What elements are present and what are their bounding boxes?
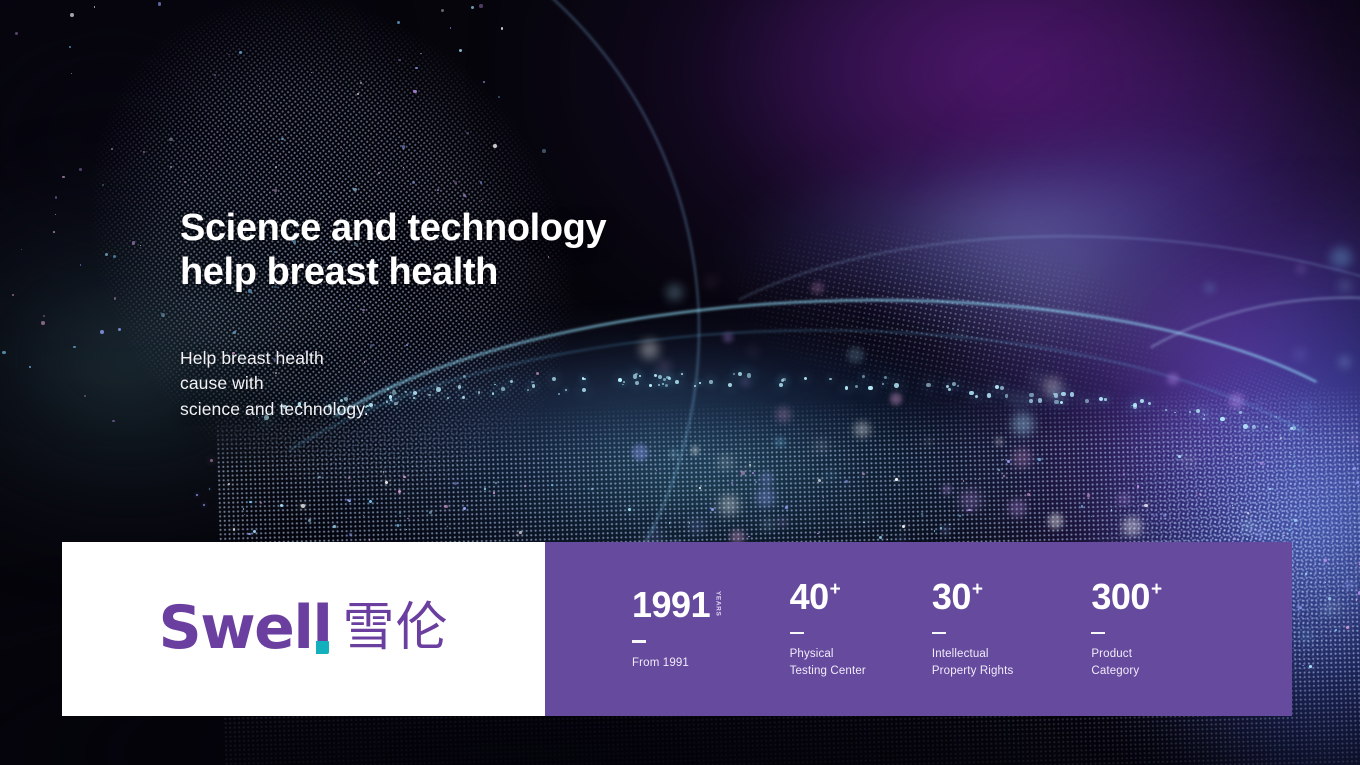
brand-logo: Swell 雪伦 [159,598,449,658]
stat-item: 40+Physical Testing Center [790,579,866,679]
stat-number: 30 [932,579,971,615]
filament-bead [694,385,696,387]
bokeh-dot [689,519,704,534]
filament-bead [618,378,622,382]
particle-dot [450,27,451,28]
bokeh-dot [1241,519,1256,534]
filament-bead [1029,399,1033,403]
particle-dot [402,145,405,148]
particle-dot [459,49,462,52]
particle-dot [998,469,1000,471]
particle-dot [239,51,242,54]
page-title: Science and technology help breast healt… [180,206,606,295]
filament-bead [1038,398,1043,403]
filament-bead [1054,393,1058,397]
particle-dot [260,502,262,504]
stat-item: 30+Intellectual Property Rights [932,579,1014,679]
bokeh-dot [1340,357,1350,367]
particle-dot [493,144,497,148]
stat-number: 1991 [632,587,710,623]
filament-bead [1029,393,1034,398]
particle-dot [21,249,22,250]
stat-plus-sign: + [830,580,841,599]
stat-plus-sign: + [1151,580,1162,599]
particle-dot [785,506,787,508]
particle-dot [369,539,370,540]
particle-dot [949,524,951,526]
stat-item: 1991YEARSFrom 1991 [632,587,721,671]
bokeh-dot [854,422,870,438]
filament-bead [1061,392,1065,396]
logo-wordmark-text: Swell [159,598,332,658]
particle-dot [55,196,58,199]
particle-dot [311,72,312,73]
filament-bead [862,375,865,378]
filament-bead [1220,417,1225,422]
particle-dot [519,531,522,534]
particle-dot [1087,494,1090,497]
particle-dot [333,525,336,528]
stat-plus-sign: + [972,580,983,599]
stat-label: Intellectual Property Rights [932,646,1014,679]
particle-dot [214,74,216,76]
bokeh-dot [759,471,774,486]
particle-dot [1309,665,1312,668]
bokeh-dot [691,446,700,455]
bokeh-dot [1201,410,1209,418]
filament-bead [675,380,679,384]
particle-dot [55,214,56,215]
bokeh-dot [1008,499,1026,517]
particle-dot [817,533,818,534]
particle-dot [1003,475,1005,477]
filament-bead [1148,402,1151,405]
stat-number-row: 30+ [932,579,1014,615]
particle-dot [406,529,408,531]
particle-dot [1234,538,1236,540]
particle-dot [429,511,432,514]
stat-divider-dash [932,632,946,635]
stat-label: Product Category [1091,646,1162,679]
particle-dot [2,351,6,355]
particle-dot [1335,629,1337,631]
stat-label: Physical Testing Center [790,646,866,679]
stats-panel: 1991YEARSFrom 199140+Physical Testing Ce… [545,542,1292,716]
bokeh-dot [778,519,786,527]
particle-dot [196,494,198,496]
particle-dot [1324,559,1327,562]
bokeh-dot [1344,580,1354,590]
particle-dot [347,499,349,501]
stat-number: 40 [790,579,829,615]
particle-dot [253,530,256,533]
bokeh-dot [762,519,773,530]
bokeh-dot [1296,350,1305,359]
particle-dot [755,481,757,483]
stat-item: 300+Product Category [1091,579,1162,679]
particle-dot [243,508,244,509]
particle-dot [1144,504,1147,507]
bokeh-dot [1012,448,1032,468]
bokeh-dot [1167,373,1180,386]
particle-dot [444,505,448,509]
particle-dot [132,241,135,244]
bokeh-dot [811,282,824,295]
particle-dot [43,315,45,317]
filament-bead [855,385,858,388]
filament-bead [681,373,683,375]
particle-dot [169,138,172,141]
particle-dot [102,184,104,186]
stat-label: From 1991 [632,655,721,671]
particle-dot [447,526,448,527]
particle-dot [501,27,503,29]
particle-dot [420,53,422,55]
particle-dot [397,524,399,526]
particle-dot [41,321,45,325]
filament-bead [926,383,930,387]
particle-dot [741,471,745,475]
particle-dot [1269,488,1271,490]
particle-dot [349,533,352,536]
bokeh-dot [669,449,678,458]
particle-dot [752,472,754,474]
filament-bead [1070,392,1075,397]
particle-dot [1290,473,1292,475]
particle-dot [301,504,304,507]
filament-bead [1243,424,1248,429]
particle-dot [895,478,898,481]
bokeh-dot [776,407,791,422]
particle-dot [357,93,359,95]
logo-panel: Swell 雪伦 [62,542,545,716]
particle-dot [100,330,104,334]
bokeh-dot [995,437,1003,445]
particle-dot [143,151,145,153]
particle-dot [349,501,350,502]
particle-dot [1260,462,1263,465]
particle-dot [15,32,18,35]
bokeh-dot [1302,403,1311,412]
particle-dot [399,512,401,514]
bokeh-dot [652,525,657,530]
particle-dot [369,500,372,503]
particle-dot [112,420,115,423]
particle-dot [863,522,864,523]
bokeh-dot [845,516,851,522]
stat-number: 300 [1091,579,1150,615]
particle-dot [862,473,865,476]
particle-dot [1305,573,1307,575]
bokeh-dot [1030,373,1040,383]
particle-dot [403,476,406,479]
filament-bead [1054,400,1059,405]
particle-dot [161,313,165,317]
particle-dot [80,264,82,266]
particle-dot [479,4,483,8]
filament-bead [845,386,849,390]
bokeh-dot [1229,393,1245,409]
particle-dot [669,522,671,524]
bokeh-dot [847,347,864,364]
filament-bead [1165,409,1167,411]
bokeh-dot [1012,413,1033,434]
stat-unit-label: YEARS [714,591,721,616]
particle-dot [413,90,416,93]
particle-dot [1235,457,1237,459]
particle-dot [1111,509,1113,511]
bokeh-dot [1330,247,1352,269]
particle-dot [1081,505,1083,507]
particle-dot [415,67,418,70]
particle-dot [731,482,733,484]
bokeh-dot [640,340,659,359]
particle-dot [498,96,500,98]
bokeh-dot [775,437,785,447]
filament-bead [868,386,873,391]
hero-copy-block: Science and technology help breast healt… [180,206,606,422]
bokeh-dot [1257,400,1263,406]
particle-dot [274,189,277,192]
bokeh-dot [632,444,649,461]
particle-dot [70,13,74,17]
bokeh-dot [1122,517,1142,537]
bokeh-dot [1256,528,1266,538]
particle-dot [280,504,284,508]
bokeh-dot [960,490,981,511]
particle-dot [203,504,205,506]
particle-dot [53,231,55,233]
particle-dot [542,149,546,153]
particle-dot [628,508,631,511]
particle-dot [1027,493,1030,496]
stat-divider-dash [1091,632,1105,635]
particle-dot [79,168,82,171]
particle-dot [73,346,76,349]
filament-bead [668,377,671,380]
bokeh-dot [1301,631,1312,642]
particle-dot [233,528,235,530]
brand-stats-panel: Swell 雪伦 1991YEARSFrom 199140+Physical T… [62,542,1292,716]
particle-dot [921,513,923,515]
bokeh-dot [925,438,932,445]
filament-bead [1085,399,1089,403]
particle-dot [699,487,701,489]
filament-bead [1189,411,1191,413]
logo-wordmark-label: Swell [159,593,332,663]
logo-accent-mark [316,641,329,654]
bokeh-dot [1048,513,1063,528]
particle-dot [1135,448,1137,450]
particle-dot [1356,599,1357,600]
bokeh-dot [1185,456,1194,465]
particle-dot [1294,519,1297,522]
particle-dot [1038,458,1041,461]
stat-number-row: 1991YEARS [632,587,721,623]
particle-dot [480,181,483,184]
logo-chinese-name: 雪伦 [342,602,448,654]
filament-bead [649,384,652,387]
bokeh-dot [1218,499,1224,505]
filament-bead [894,383,899,388]
stat-number-row: 300+ [1091,579,1162,615]
stat-number-row: 40+ [790,579,866,615]
bokeh-dot [750,348,756,354]
particle-dot [1328,597,1331,600]
particle-dot [1346,626,1349,629]
particle-dot [259,86,260,87]
bokeh-dot [1118,493,1130,505]
filament-bead [804,377,807,380]
stat-divider-dash [632,640,646,643]
bokeh-dot [708,279,714,285]
particle-dot [1359,564,1360,565]
filament-bead [709,380,712,383]
hero-subtitle: Help breast health cause with science an… [180,346,606,422]
particle-dot [591,488,593,490]
filament-bead [952,382,956,386]
bokeh-dot [943,485,951,493]
particle-dot [879,536,882,539]
stat-divider-dash [790,632,804,635]
particle-dot [454,181,457,184]
particle-dot [407,518,408,519]
bokeh-dot [1204,283,1215,294]
particle-dot [111,148,113,150]
bokeh-dot [723,333,732,342]
filament-bead [1104,398,1107,401]
filament-bead [882,383,884,385]
filament-bead [662,383,664,385]
particle-dot [887,539,888,540]
bokeh-dot [958,330,964,336]
particle-dot [1280,437,1282,439]
